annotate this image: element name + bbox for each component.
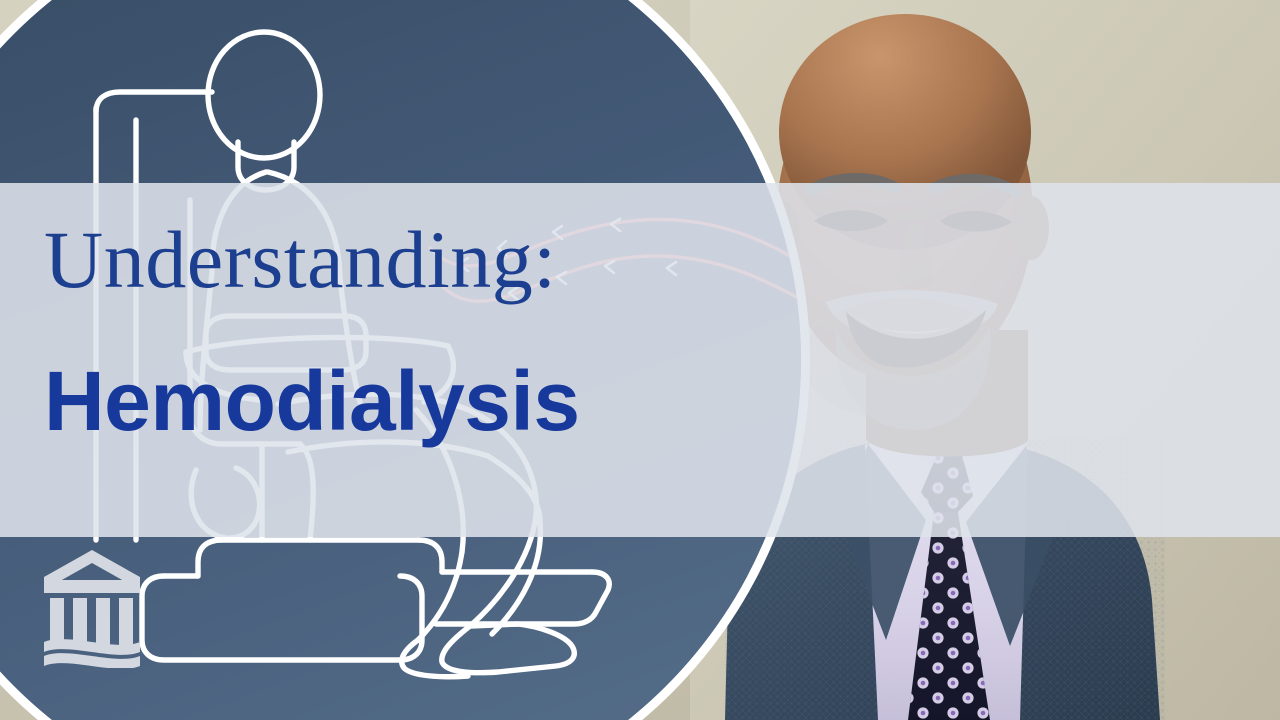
mayo-clinic-shield-logo <box>44 550 140 668</box>
title-band <box>0 183 1280 537</box>
video-thumbnail: Understanding: Hemodialysis <box>0 0 1280 720</box>
